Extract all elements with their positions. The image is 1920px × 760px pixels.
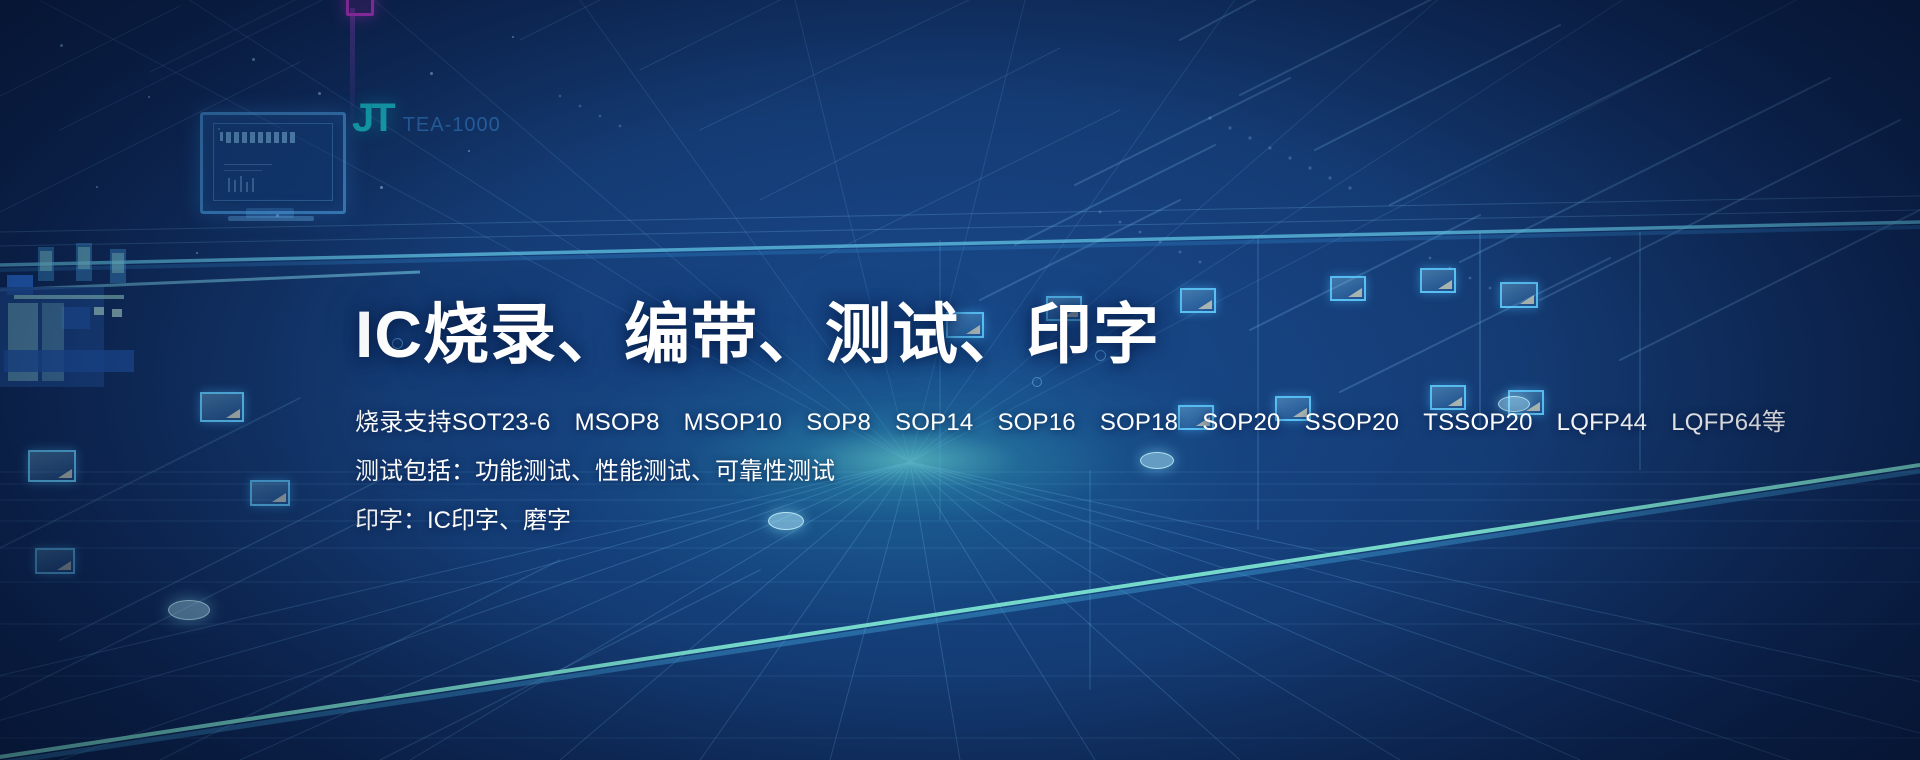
package-item: SSOP20: [1305, 409, 1400, 436]
chip-tray: [1330, 276, 1366, 301]
chip-tray: [250, 480, 290, 506]
machine-model-label: TEA-1000: [403, 115, 501, 135]
brand-mark: JT TEA-1000: [352, 98, 501, 138]
package-item: TSSOP20: [1423, 409, 1532, 436]
jt-logo: JT: [352, 98, 393, 138]
page-title: IC烧录、编带、测试、印字: [355, 300, 1605, 369]
package-item: SOP14: [895, 409, 973, 436]
packages-line: 烧录支持SOT23-6MSOP8MSOP10SOP8SOP14SOP16SOP1…: [355, 411, 1605, 435]
package-item: SOP16: [997, 409, 1075, 436]
hero-banner: JT TEA-1000: [0, 0, 1920, 760]
package-item: SOP8: [806, 409, 871, 436]
package-item: SOP18: [1100, 409, 1178, 436]
conveyor-puck: [168, 600, 210, 620]
marking-line: 印字：IC印字、磨字: [355, 509, 1605, 533]
burn-support-prefix: 烧录支持: [355, 409, 452, 436]
testing-line: 测试包括：功能测试、性能测试、可靠性测试: [355, 460, 1605, 484]
chip-tray: [28, 450, 76, 482]
package-item: SOP20: [1202, 409, 1280, 436]
package-item: LQFP64等: [1671, 409, 1786, 436]
monitor-base: [228, 216, 314, 221]
package-list: SOT23-6MSOP8MSOP10SOP8SOP14SOP16SOP18SOP…: [452, 409, 1786, 436]
chip-tray: [200, 392, 244, 422]
magenta-indicator-chip: [346, 0, 374, 16]
package-item: SOT23-6: [452, 409, 551, 436]
industrial-machinery: [0, 255, 150, 455]
chip-tray: [1420, 268, 1456, 293]
package-item: MSOP10: [684, 409, 783, 436]
chip-tray: [35, 548, 75, 574]
package-item: LQFP44: [1557, 409, 1648, 436]
monitor-frame: [200, 112, 346, 214]
hero-text-block: IC烧录、编带、测试、印字 烧录支持SOT23-6MSOP8MSOP10SOP8…: [355, 300, 1605, 558]
monitor-screen: [213, 123, 333, 201]
package-item: MSOP8: [575, 409, 660, 436]
